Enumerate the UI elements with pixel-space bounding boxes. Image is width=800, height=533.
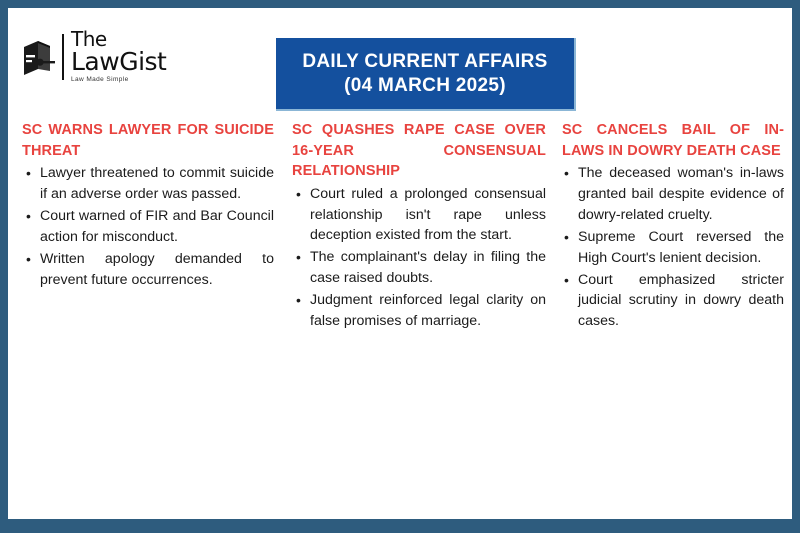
news-points-list: Lawyer threatened to commit suicide if a… [22,163,274,290]
banner-title-line2: (04 MARCH 2025) [344,74,506,98]
list-item: Supreme Court reversed the High Court's … [562,227,784,269]
list-item: The deceased woman's in-laws granted bai… [562,163,784,226]
news-points-list: Court ruled a prolonged consensual relat… [292,184,546,332]
news-headline: SC WARNS LAWYER FOR SUICIDE THREAT [22,120,274,161]
list-item: The complainant's delay in filing the ca… [292,247,546,289]
news-column-3: SC CANCELS BAIL OF IN-LAWS IN DOWRY DEAT… [552,120,792,333]
news-headline: SC CANCELS BAIL OF IN-LAWS IN DOWRY DEAT… [562,120,784,161]
brand-name-line2: LawGist [71,50,166,75]
list-item: Judgment reinforced legal clarity on fal… [292,290,546,332]
title-banner: DAILY CURRENT AFFAIRS (04 MARCH 2025) [276,38,578,113]
list-item: Court warned of FIR and Bar Council acti… [22,206,274,248]
poster-header: The LawGist Law Made Simple DAILY CURREN… [8,8,792,112]
news-column-2: SC QUASHES RAPE CASE OVER 16-YEAR CONSEN… [280,120,552,333]
news-column-1: SC WARNS LAWYER FOR SUICIDE THREAT Lawye… [8,120,280,291]
law-book-icon [18,35,60,79]
title-banner-box: DAILY CURRENT AFFAIRS (04 MARCH 2025) [276,38,576,111]
brand-tagline: Law Made Simple [71,76,166,83]
list-item: Lawyer threatened to commit suicide if a… [22,163,274,205]
poster-frame: The LawGist Law Made Simple DAILY CURREN… [0,0,800,533]
brand-logo[interactable]: The LawGist Law Made Simple [18,30,166,83]
logo-divider [62,34,64,80]
list-item: Court ruled a prolonged consensual relat… [292,184,546,247]
news-headline: SC QUASHES RAPE CASE OVER 16-YEAR CONSEN… [292,120,546,182]
list-item: Court emphasized stricter judicial scrut… [562,270,784,333]
list-item: Written apology demanded to prevent futu… [22,249,274,291]
news-points-list: The deceased woman's in-laws granted bai… [562,163,784,332]
banner-title-line1: DAILY CURRENT AFFAIRS [302,50,547,74]
news-columns: SC WARNS LAWYER FOR SUICIDE THREAT Lawye… [8,120,792,333]
brand-wordmark: The LawGist Law Made Simple [71,30,166,83]
poster-page: The LawGist Law Made Simple DAILY CURREN… [8,8,792,519]
